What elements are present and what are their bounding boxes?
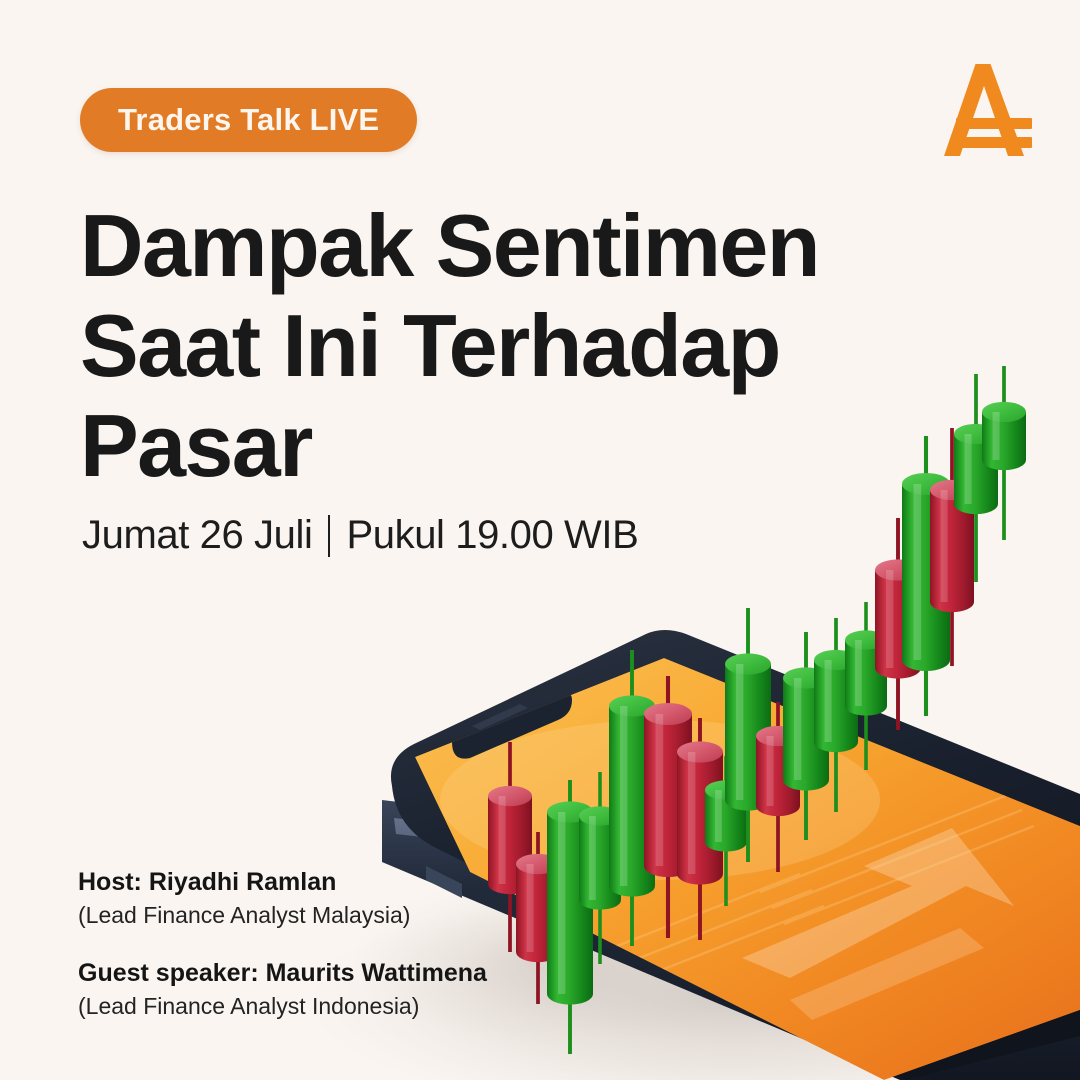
datetime-separator: [328, 515, 330, 557]
candle-highlight: [941, 490, 948, 602]
live-badge-label: Traders Talk LIVE: [118, 102, 379, 138]
candle-highlight: [688, 752, 695, 874]
candle-highlight: [794, 678, 801, 780]
candle-highlight: [499, 796, 506, 884]
candle-highlight: [855, 640, 862, 706]
candle-highlight: [715, 790, 722, 842]
speaker-credits: Host: Riyadhi Ramlan (Lead Finance Analy…: [78, 866, 487, 1022]
brand-logo-icon: [934, 58, 1038, 162]
headline-line-3: Pasar: [80, 396, 840, 496]
candle-top-cap: [488, 786, 532, 806]
candle-highlight: [914, 484, 922, 660]
headline-line-2: Saat Ini Terhadap: [80, 296, 840, 396]
candle-top-cap: [644, 703, 692, 725]
live-badge: Traders Talk LIVE: [80, 88, 417, 152]
credit-host: Host: Riyadhi Ramlan (Lead Finance Analy…: [78, 866, 487, 931]
candle-top-cap: [677, 741, 723, 762]
event-time: Pukul 19.00 WIB: [346, 513, 638, 558]
candle-highlight: [620, 706, 627, 886]
credit-guest-name: Guest speaker: Maurits Wattimena: [78, 957, 487, 990]
candle-top-cap: [982, 402, 1026, 422]
candle-highlight: [993, 412, 1000, 460]
candle-highlight: [558, 812, 565, 994]
candle-18-up: [982, 366, 1026, 540]
event-date: Jumat 26 Juli: [82, 513, 312, 558]
candle-highlight: [767, 736, 774, 806]
credit-host-name: Host: Riyadhi Ramlan: [78, 866, 487, 899]
candle-highlight: [886, 570, 893, 668]
page-title: Dampak Sentimen Saat Ini Terhadap Pasar: [80, 196, 840, 496]
candle-highlight: [825, 660, 832, 742]
event-datetime: Jumat 26 Juli Pukul 19.00 WIB: [82, 513, 638, 558]
headline-line-1: Dampak Sentimen: [80, 196, 840, 296]
credit-host-role: (Lead Finance Analyst Malaysia): [78, 899, 487, 931]
candle-top-cap: [725, 653, 771, 674]
candle-highlight: [965, 434, 972, 504]
credit-guest: Guest speaker: Maurits Wattimena (Lead F…: [78, 957, 487, 1022]
candle-highlight: [589, 816, 596, 900]
promo-poster: Traders Talk LIVE Dampak Sentimen Saat I…: [0, 0, 1080, 1080]
credit-guest-role: (Lead Finance Analyst Indonesia): [78, 990, 487, 1022]
candle-highlight: [527, 864, 534, 952]
candle-highlight: [736, 664, 743, 800]
candle-highlight: [656, 714, 664, 866]
